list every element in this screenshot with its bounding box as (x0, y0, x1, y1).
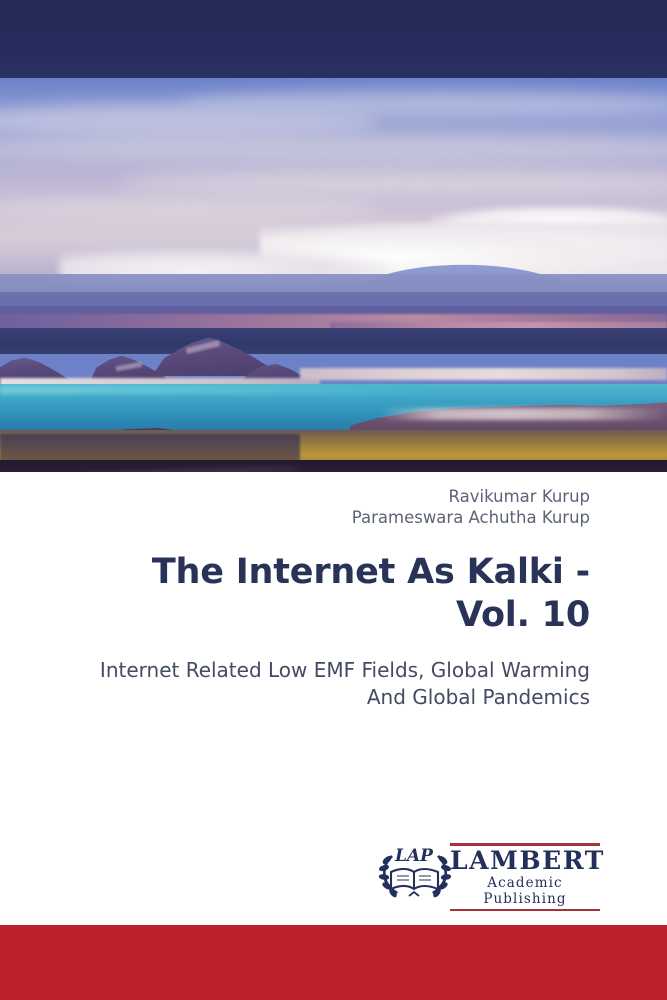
book-subtitle: Internet Related Low EMF Fields, Global … (76, 657, 590, 711)
book-cover: Ravikumar Kurup Parameswara Achutha Kuru… (0, 0, 667, 1000)
water-highlight (0, 386, 420, 394)
shoreline (300, 368, 667, 380)
cover-photograph (0, 78, 667, 472)
author-list: Ravikumar Kurup Parameswara Achutha Kuru… (76, 486, 590, 528)
publisher-tagline: Academic Publishing (450, 875, 600, 909)
lap-book-laurel-icon: LAP (378, 843, 452, 901)
cover-text-block: Ravikumar Kurup Parameswara Achutha Kuru… (76, 486, 590, 711)
author-name: Parameswara Achutha Kurup (76, 507, 590, 528)
publisher-name: LAMBERT (450, 846, 600, 875)
cloud-layer (0, 198, 380, 220)
dark-foreground (0, 460, 667, 472)
book-title: The Internet As Kalki - Vol. 10 (76, 551, 590, 637)
cloud-layer (0, 134, 667, 164)
top-color-band (0, 0, 667, 78)
author-name: Ravikumar Kurup (76, 486, 590, 507)
publisher-logo: LAP LAMBERT Academic Publishing (378, 841, 600, 903)
peninsula-highlight (380, 408, 667, 420)
bottom-color-band: Kraina Książek (0, 925, 667, 1000)
lambert-wordmark-block: LAMBERT Academic Publishing (450, 843, 600, 911)
dark-shelf (0, 328, 667, 354)
logo-bottom-rule (450, 909, 600, 912)
lap-wordmark: LAP (394, 846, 434, 866)
